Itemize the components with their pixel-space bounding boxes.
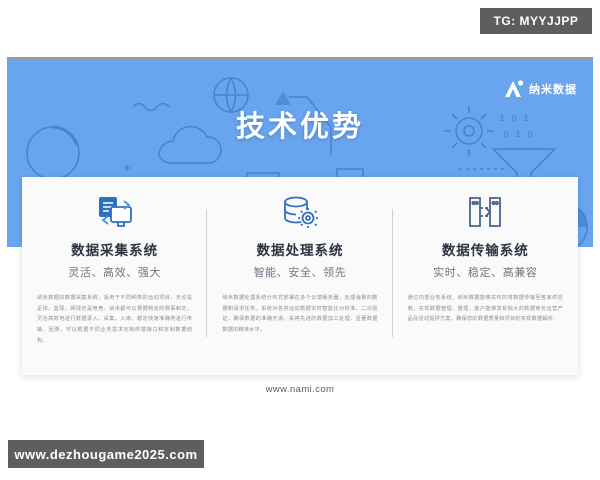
feature-column-data-transmission: 数据传输系统 实时、稳定、高兼容 通过内部业务系统、纳米数据能够实时的将数据传输…	[393, 177, 578, 375]
site-watermark: www.dezhougame2025.com	[8, 440, 204, 468]
features-card: 数据采集系统 灵活、高效、强大 纳米数据的数据采集系统，适用于不同种类的运动项目…	[22, 177, 578, 375]
feature-title: 数据处理系统	[222, 239, 377, 259]
feature-subtitle: 灵活、高效、强大	[37, 264, 192, 280]
feature-subtitle: 实时、稳定、高兼容	[408, 264, 563, 280]
data-collection-icon	[37, 191, 192, 233]
feature-body: 纳米数据的数据采集系统，适用于不同种类的运动项目，无论是足球、篮球、网球还是电竞…	[37, 293, 192, 346]
brand-name: 纳米数据	[529, 81, 577, 97]
feature-column-data-processing: 数据处理系统 智能、安全、领先 纳米数据处理系统分布式部署在多个云端服务器，处理…	[207, 177, 392, 375]
nami-logo-mark	[502, 79, 524, 99]
feature-body: 通过内部业务系统、纳米数据能够实时的将数据传输至各家供应商，实现数据管理、整理，…	[408, 293, 563, 325]
brand-logo: 纳米数据	[502, 79, 577, 99]
feature-subtitle: 智能、安全、领先	[222, 264, 377, 280]
telegram-watermark: TG: MYYJJPP	[480, 8, 592, 34]
page-title: 技术优势	[7, 103, 593, 145]
feature-title: 数据采集系统	[37, 239, 192, 259]
feature-title: 数据传输系统	[408, 239, 563, 259]
poster: 1 0 1 0 1 0 01	[0, 57, 600, 422]
feature-column-data-collection: 数据采集系统 灵活、高效、强大 纳米数据的数据采集系统，适用于不同种类的运动项目…	[22, 177, 207, 375]
data-processing-icon	[222, 191, 377, 233]
footer-url: www.nami.com	[0, 384, 600, 395]
feature-body: 纳米数据处理系统分布式部署在多个云端服务器，处理海量的数据和请求任务，系统对各类…	[222, 293, 377, 336]
data-transmission-icon	[408, 191, 563, 233]
